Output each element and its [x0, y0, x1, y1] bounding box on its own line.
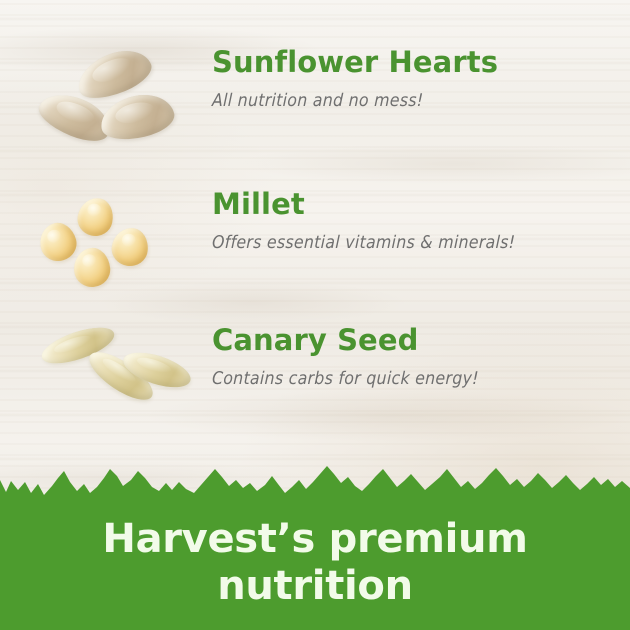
banner-headline-line1: Harvest’s premium: [0, 516, 630, 563]
millet-description: Offers essential vitamins & minerals!: [212, 233, 613, 253]
millet-grains-icon: [28, 190, 198, 310]
millet-title: Millet: [212, 190, 612, 219]
banner-headline-line2: nutrition: [0, 563, 630, 610]
sunflower-hearts-description: All nutrition and no mess!: [212, 91, 613, 111]
canary-seed-title: Canary Seed: [212, 326, 612, 355]
bottom-banner: Harvest’s premium nutrition: [0, 460, 630, 630]
canary-seeds-icon: [28, 326, 198, 446]
list-item-canary-seed: Canary Seed Contains carbs for quick ene…: [0, 326, 630, 446]
sunflower-heart-seed: [96, 88, 178, 146]
canary-seed-description: Contains carbs for quick energy!: [212, 369, 613, 389]
list-item-sunflower-hearts: Sunflower Hearts All nutrition and no me…: [0, 48, 630, 168]
canary-seed-copy: Canary Seed Contains carbs for quick ene…: [212, 326, 612, 389]
sunflower-hearts-title: Sunflower Hearts: [212, 48, 612, 77]
poster-root: Sunflower Hearts All nutrition and no me…: [0, 0, 630, 630]
sunflower-hearts-seeds-icon: [28, 48, 198, 168]
banner-headline: Harvest’s premium nutrition: [0, 516, 630, 610]
millet-grain: [110, 226, 151, 269]
sunflower-hearts-copy: Sunflower Hearts All nutrition and no me…: [212, 48, 612, 111]
millet-grain: [74, 195, 116, 239]
list-item-millet: Millet Offers essential vitamins & miner…: [0, 190, 630, 310]
millet-grain: [72, 246, 112, 289]
millet-grain: [35, 219, 80, 265]
millet-copy: Millet Offers essential vitamins & miner…: [212, 190, 612, 253]
